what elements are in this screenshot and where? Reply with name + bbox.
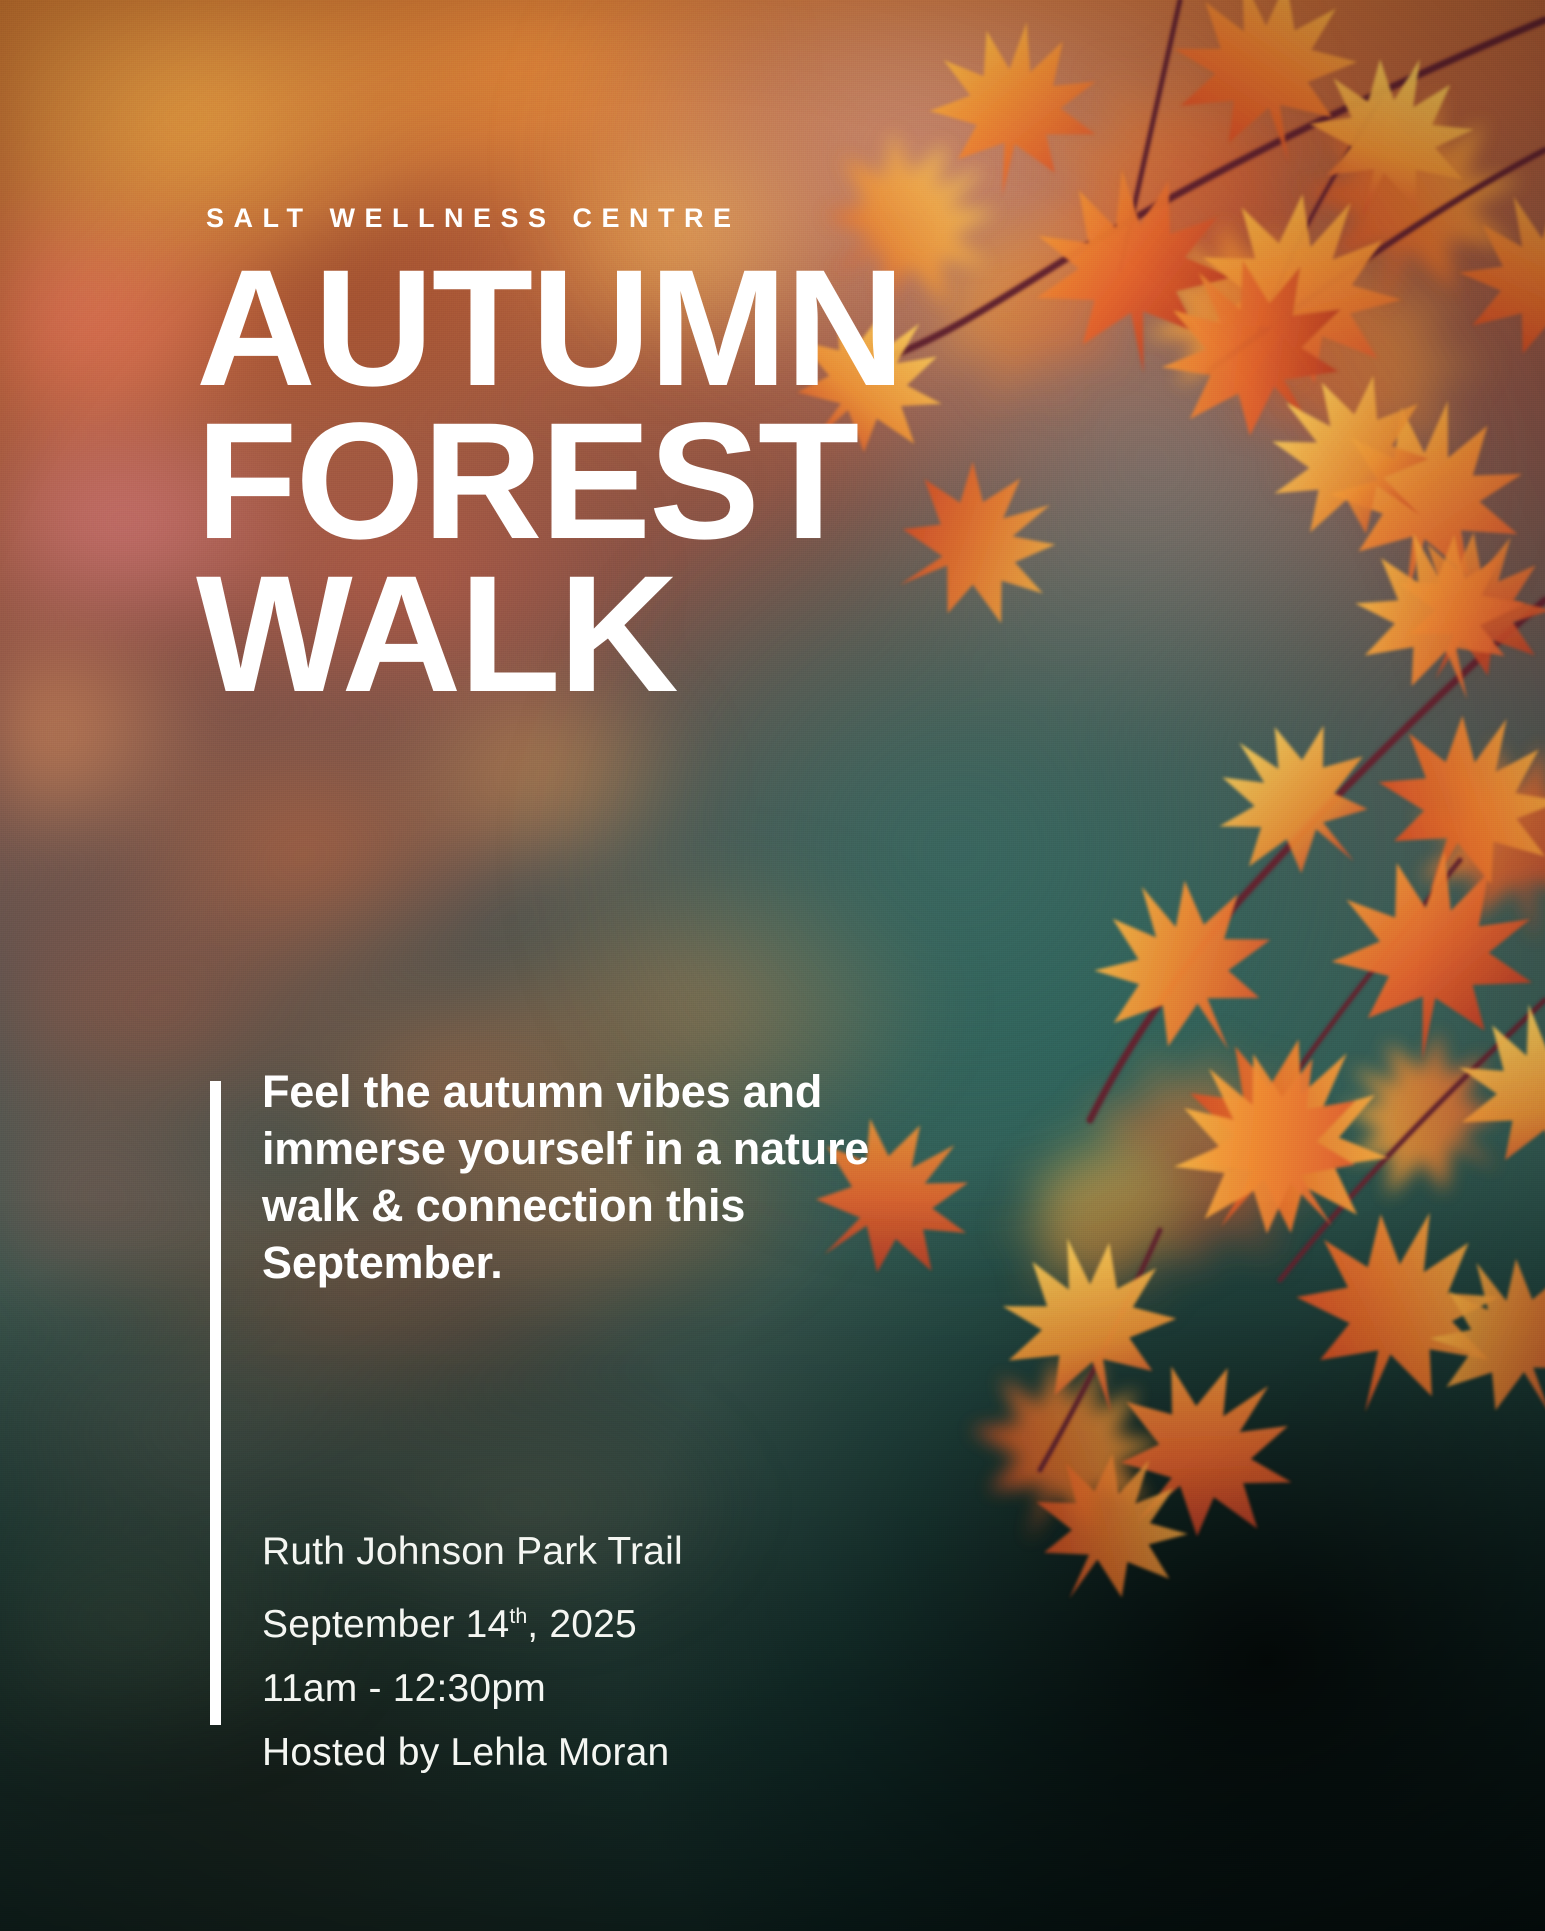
- event-date: September 14th, 2025: [262, 1584, 683, 1657]
- poster-canvas: SALT WELLNESS CENTRE AUTUMN FOREST WALK …: [0, 0, 1545, 1931]
- brand-eyebrow: SALT WELLNESS CENTRE: [206, 203, 741, 234]
- event-date-prefix: September 14: [262, 1603, 509, 1646]
- description-paragraph: Feel the autumn vibes and immerse yourse…: [262, 1063, 902, 1291]
- event-date-ordinal: th: [509, 1604, 527, 1628]
- event-details: Ruth Johnson Park Trail September 14th, …: [262, 1520, 683, 1785]
- headline-line-3: WALK: [196, 558, 1096, 711]
- page-title: AUTUMN FOREST WALK: [196, 252, 1096, 711]
- vertical-accent-rule: [210, 1081, 221, 1725]
- headline-line-1: AUTUMN: [196, 252, 1096, 405]
- event-date-suffix: , 2025: [527, 1603, 637, 1646]
- event-location: Ruth Johnson Park Trail: [262, 1520, 683, 1584]
- event-time: 11am - 12:30pm: [262, 1657, 683, 1721]
- headline-line-2: FOREST: [196, 405, 1096, 558]
- event-host: Hosted by Lehla Moran: [262, 1721, 683, 1785]
- poster-content: SALT WELLNESS CENTRE AUTUMN FOREST WALK …: [0, 0, 1545, 1931]
